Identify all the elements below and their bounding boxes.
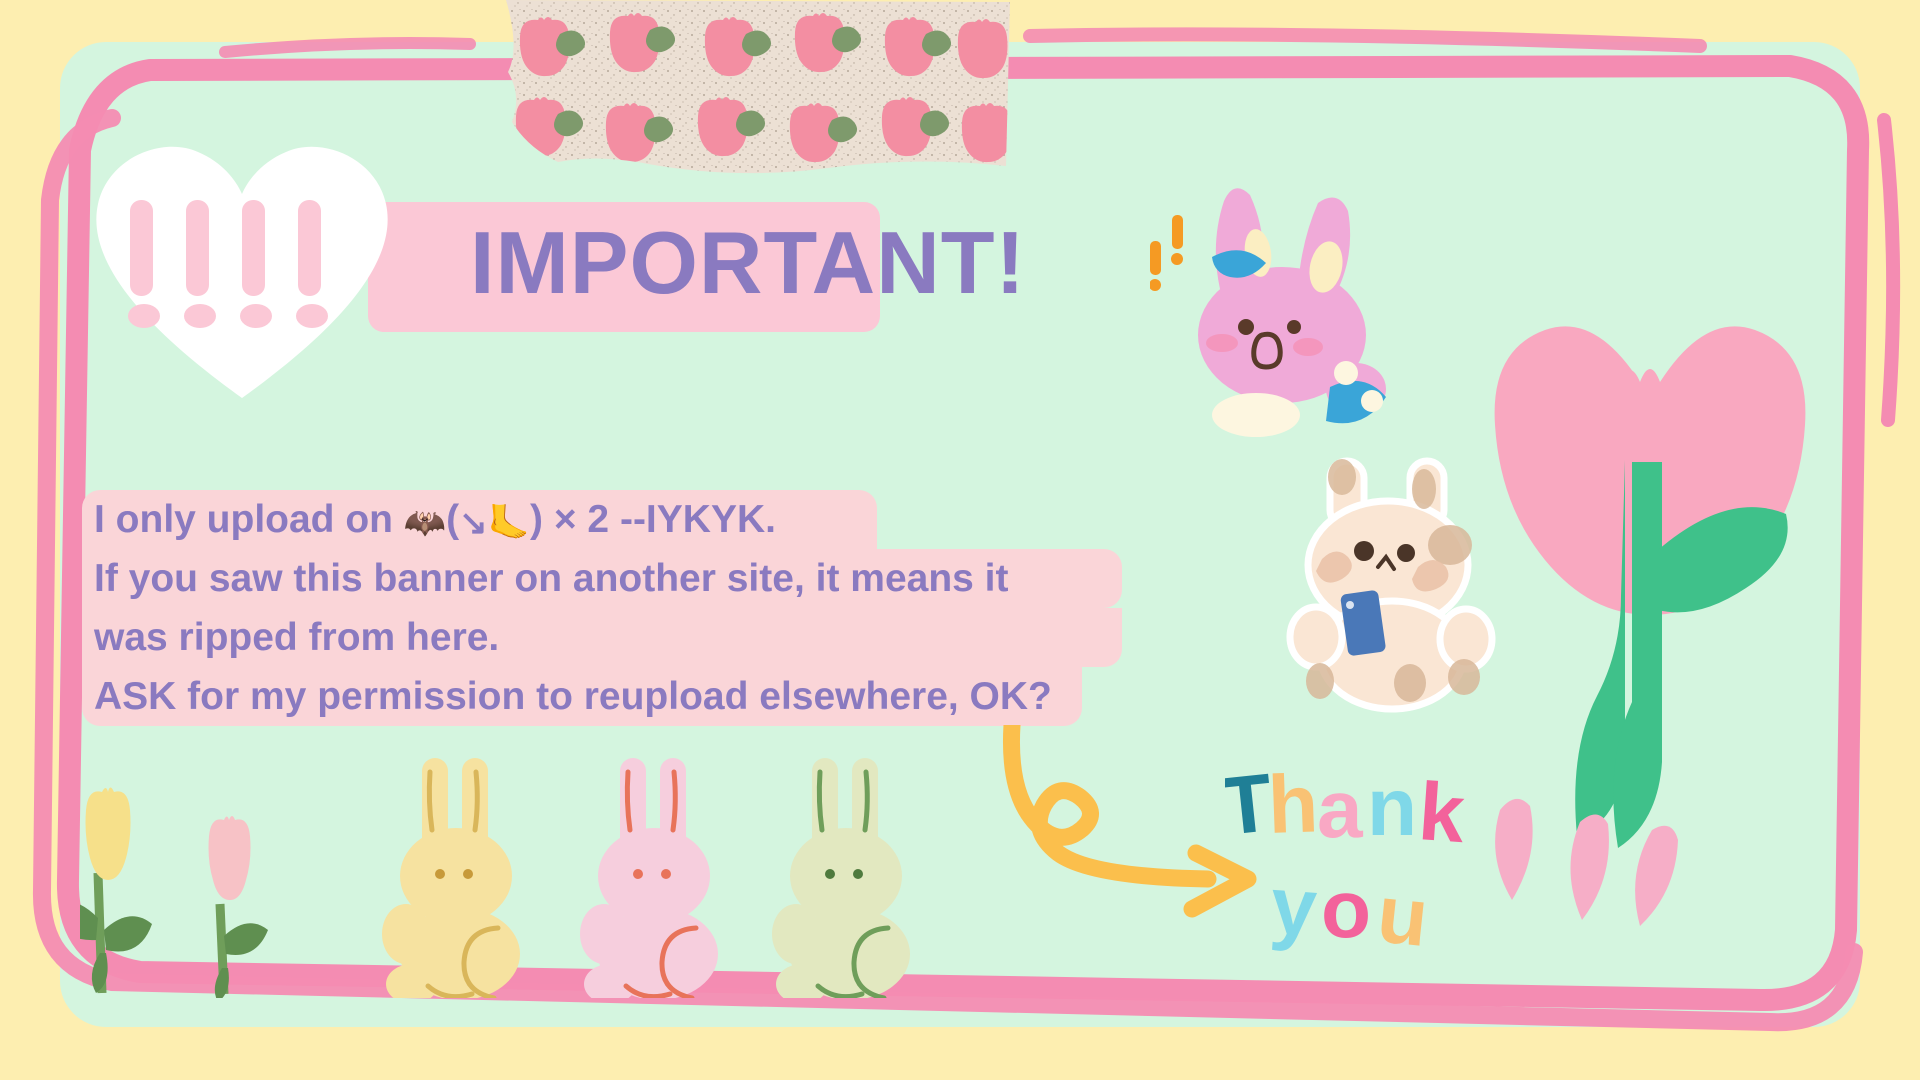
- message-line-1: I only upload on 🦇(↘🦶) × 2 --IYKYK.: [82, 490, 982, 549]
- letter-o: o: [1321, 864, 1371, 955]
- message-line-3-text: was ripped from here.: [82, 608, 511, 667]
- message-line-1-text: I only upload on: [94, 498, 404, 541]
- letter-h: h: [1266, 765, 1319, 851]
- letter-u: u: [1373, 868, 1432, 955]
- bat-emoji: 🦇: [404, 504, 446, 542]
- bunny-cookie-pink: [580, 758, 718, 998]
- cream-spotted-bunny-with-phone: [1278, 455, 1508, 715]
- message-block: I only upload on 🦇(↘🦶) × 2 --IYKYK. If y…: [82, 490, 982, 726]
- line-3-highlight-tail: [877, 608, 1122, 667]
- letter-y: y: [1268, 860, 1320, 954]
- letter-n: n: [1367, 765, 1417, 853]
- letter-k: k: [1416, 766, 1468, 860]
- small-pink-tulip: [209, 816, 269, 998]
- arrow-lower-right-emoji: ↘: [459, 504, 488, 542]
- bunny-cookie-green: [772, 758, 910, 998]
- thank-you-lettering: T h a n k y o u: [1225, 765, 1525, 955]
- small-yellow-tulip: [80, 788, 152, 994]
- letter-a: a: [1317, 765, 1364, 855]
- bottom-sprite-row: [80, 748, 1000, 998]
- notice-banner: IMPORTANT! I only upload on 🦇(↘🦶) × 2 --…: [0, 0, 1920, 1080]
- white-heart-icon: [82, 132, 402, 402]
- page-title: IMPORTANT!: [470, 219, 1026, 307]
- message-line-1-tail: ) × 2 --IYKYK.: [530, 498, 776, 541]
- message-line-3: was ripped from here.: [82, 608, 982, 667]
- pink-bunny-mascot: [1150, 175, 1420, 445]
- message-line-2: If you saw this banner on another site, …: [82, 549, 982, 608]
- exclamation-marks: [1150, 215, 1183, 291]
- foot-emoji: 🦶: [488, 504, 530, 542]
- bunny-cookie-yellow: [382, 758, 520, 998]
- message-line-2-text: If you saw this banner on another site, …: [82, 549, 1021, 608]
- message-line-4-text: ASK for my permission to reupload elsewh…: [82, 667, 1064, 726]
- message-line-4: ASK for my permission to reupload elsewh…: [82, 667, 982, 726]
- open-paren: (: [446, 498, 459, 541]
- tulip-washi-tape: [498, 0, 1018, 181]
